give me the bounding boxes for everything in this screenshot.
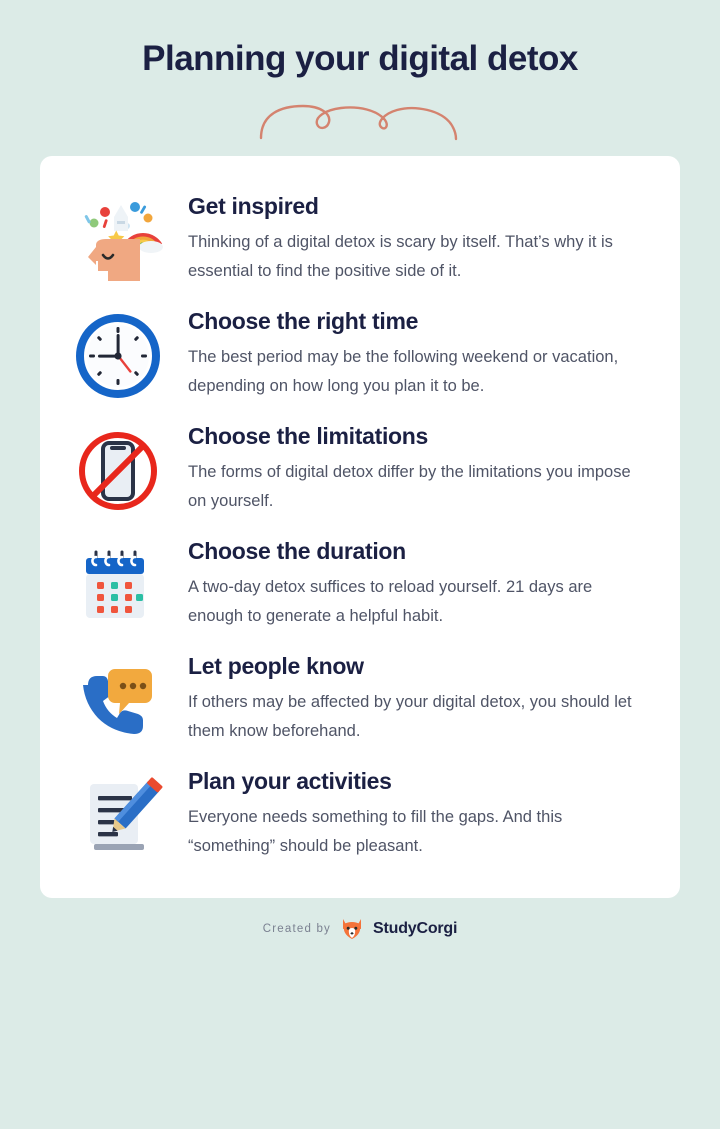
- step-description: The forms of digital detox differ by the…: [188, 458, 650, 515]
- steps-card: Get inspired Thinking of a digital detox…: [40, 156, 680, 898]
- step-description: Thinking of a digital detox is scary by …: [188, 228, 650, 285]
- step-title: Plan your activities: [188, 768, 650, 794]
- footer: Created by StudyCorgi: [263, 918, 458, 940]
- step-text: Plan your activities Everyone needs some…: [188, 766, 650, 860]
- step-item: Let people know If others may be affecte…: [70, 642, 650, 757]
- squiggle-icon: [255, 102, 465, 142]
- decorative-squiggle: [255, 100, 465, 144]
- step-title: Get inspired: [188, 193, 650, 219]
- step-item: Choose the limitations The forms of digi…: [70, 412, 650, 527]
- step-description: If others may be affected by your digita…: [188, 688, 650, 745]
- footer-created-by-label: Created by: [263, 923, 331, 935]
- step-title: Choose the duration: [188, 538, 650, 564]
- phone-with-speech-bubble-icon: [70, 651, 166, 747]
- step-description: A two-day detox suffices to reload yours…: [188, 573, 650, 630]
- footer-brand-name: StudyCorgi: [373, 920, 457, 938]
- step-text: Choose the limitations The forms of digi…: [188, 421, 650, 515]
- step-text: Choose the duration A two-day detox suff…: [188, 536, 650, 630]
- head-with-rainbow-ideas-icon: [70, 191, 166, 287]
- step-title: Choose the limitations: [188, 423, 650, 449]
- step-description: The best period may be the following wee…: [188, 343, 650, 400]
- step-title: Let people know: [188, 653, 650, 679]
- step-item: Get inspired Thinking of a digital detox…: [70, 182, 650, 297]
- step-title: Choose the right time: [188, 308, 650, 334]
- step-item: Plan your activities Everyone needs some…: [70, 757, 650, 872]
- page-title: Planning your digital detox: [142, 38, 578, 80]
- clock-icon: [70, 306, 166, 402]
- poster-root: Planning your digital detox: [0, 0, 720, 1129]
- step-text: Let people know If others may be affecte…: [188, 651, 650, 745]
- step-item: Choose the duration A two-day detox suff…: [70, 527, 650, 642]
- step-text: Get inspired Thinking of a digital detox…: [188, 191, 650, 285]
- calendar-icon: [70, 536, 166, 632]
- step-description: Everyone needs something to fill the gap…: [188, 803, 650, 860]
- step-item: Choose the right time The best period ma…: [70, 297, 650, 412]
- step-text: Choose the right time The best period ma…: [188, 306, 650, 400]
- document-with-pencil-icon: [70, 766, 166, 862]
- no-phone-prohibited-icon: [70, 421, 166, 517]
- corgi-head-logo-icon: [340, 918, 364, 940]
